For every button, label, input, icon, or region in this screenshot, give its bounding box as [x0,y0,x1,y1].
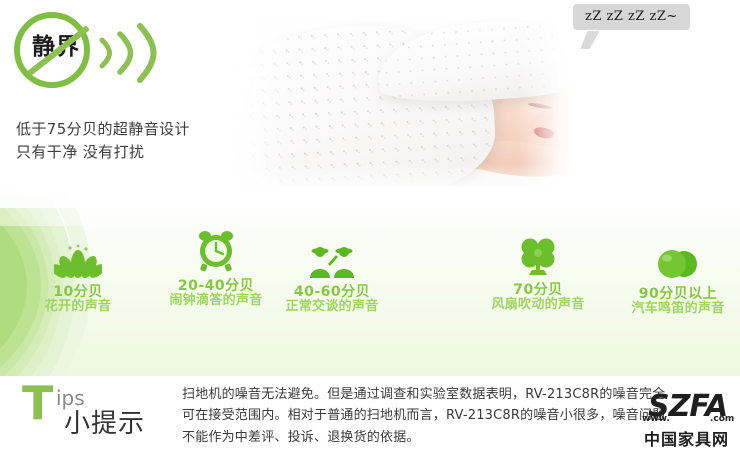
decibel-item-40-60db[interactable]: 40-60分贝 正常交谈的声音 [262,232,402,315]
tagline-line-1: 低于75分贝的超静音设计 [16,118,190,141]
tips-body-line-1: 扫地机的噪音无法避免。但是通过调查和实验室数据表明，RV-213C8R的噪音完全 [182,384,727,405]
decibel-item-70db[interactable]: 70分贝 风扇吹动的声音 [468,230,608,313]
decibel-item-90db[interactable]: 90分贝以上 汽车鸣笛的声音 [608,234,740,317]
decibel-level-label: 40-60分贝 [262,284,402,300]
electric-fan-icon [468,230,608,276]
tips-title-t: T [22,380,53,426]
decibel-desc-label: 正常交谈的声音 [262,300,402,315]
product-banner-page: zZ zZ zZ zZ~ 静界 低于75分贝的超静音设计 只有干净 没有打扰 [0,0,740,460]
decibel-level-label: 90分贝以上 [608,286,740,302]
quiet-logo: 静界 [14,10,214,100]
tips-logo: T ips 小提示 [22,380,182,450]
two-people-talking-icon [262,232,402,278]
hero-tagline: 低于75分贝的超静音设计 只有干净 没有打扰 [16,118,190,165]
decibel-scale-list: 10分贝 花开的声音 [0,186,740,376]
lotus-flower-icon [8,232,148,278]
knit-blanket-hood-shape [376,15,574,108]
decibel-level-label: 10分贝 [8,284,148,300]
decibel-desc-label: 风扇吹动的声音 [468,298,608,313]
tips-title-cn: 小提示 [64,411,145,437]
tips-title-ips: ips [56,388,85,408]
decibel-item-10db[interactable]: 10分贝 花开的声音 [8,232,148,315]
decibel-level-label: 70分贝 [468,282,608,298]
tagline-line-2: 只有干净 没有打扰 [16,141,190,164]
decibel-desc-label: 花开的声音 [8,300,148,315]
sleep-speech-bubble: zZ zZ zZ zZ~ [573,4,690,30]
hero-section: zZ zZ zZ zZ~ 静界 低于75分贝的超静音设计 只有干净 没有打扰 [0,0,740,190]
car-horn-icon [608,234,740,280]
decibel-desc-label: 汽车鸣笛的声音 [608,302,740,317]
tips-body-line-2: 可在接受范围内。相对于普通的扫地机而言，RV-213C8R的噪音小很多，噪音问题 [182,405,727,426]
tips-body-line-3: 不能作为中差评、投诉、退换货的依据。 [182,427,727,448]
tips-body: 扫地机的噪音无法避免。但是通过调查和实验室数据表明，RV-213C8R的噪音完全… [182,384,727,448]
speech-bubble-tail-icon [580,31,599,49]
sound-wave-icon [96,22,160,84]
sleep-bubble-text: zZ zZ zZ zZ~ [585,9,678,24]
tips-section: T ips 小提示 扫地机的噪音无法避免。但是通过调查和实验室数据表明，RV-2… [0,376,740,460]
sleeping-baby-photo [228,0,574,190]
